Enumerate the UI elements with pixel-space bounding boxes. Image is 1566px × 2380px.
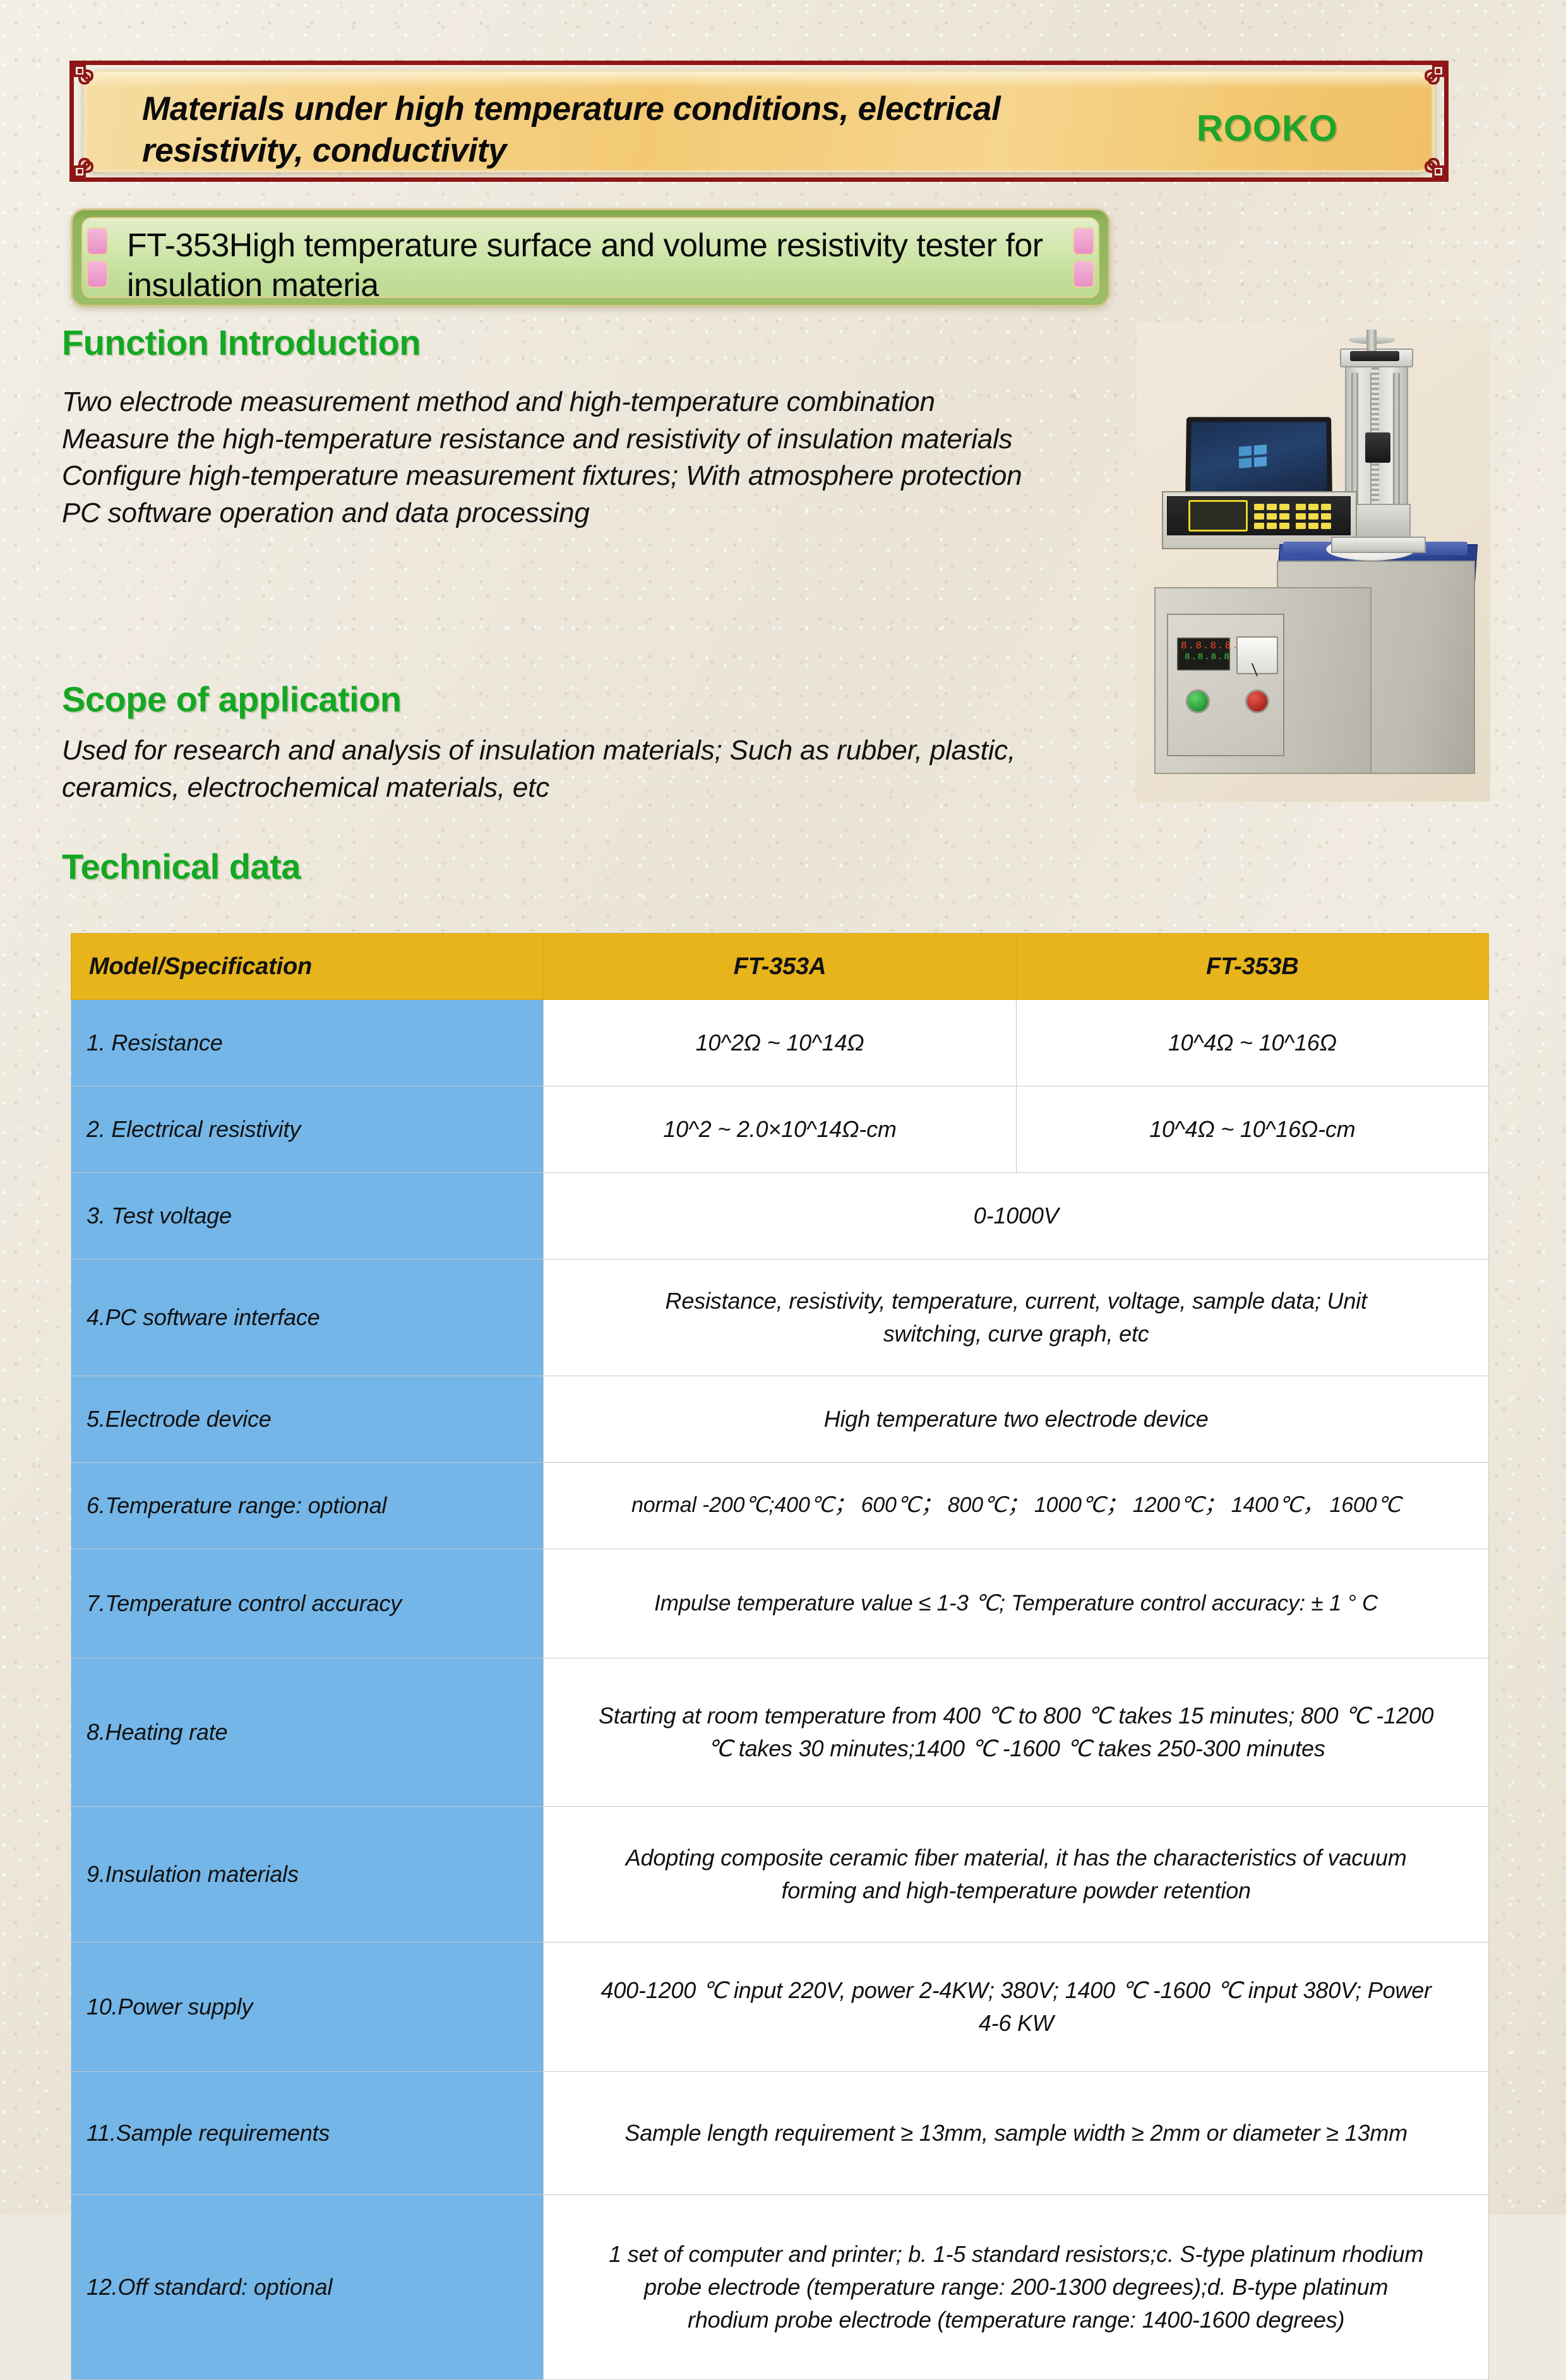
table-row: 10.Power supply 400-1200 ℃ input 220V, p… <box>71 1943 1489 2072</box>
scope-of-application-body: Used for research and analysis of insula… <box>62 732 1085 806</box>
decor-tab-icon <box>87 260 108 288</box>
keypad-key-icon <box>1254 513 1264 520</box>
table-row: 4.PC software interface Resistance, resi… <box>71 1259 1489 1376</box>
column-header-spec: Model/Specification <box>71 934 544 1000</box>
row-value-b: 10^4Ω ~ 10^16Ω-cm <box>1016 1086 1488 1173</box>
keypad-key-icon <box>1321 504 1331 510</box>
scope-of-application-heading: Scope of application <box>62 679 402 720</box>
banner-frame <box>69 61 1449 182</box>
row-value-span: Resistance, resistivity, temperature, cu… <box>544 1259 1489 1376</box>
row-label: 11.Sample requirements <box>71 2072 544 2195</box>
row-value-span: High temperature two electrode device <box>544 1376 1489 1463</box>
row-label: 4.PC software interface <box>71 1259 544 1376</box>
row-label: 5.Electrode device <box>71 1376 544 1463</box>
table-row: 5.Electrode device High temperature two … <box>71 1376 1489 1463</box>
windows-logo-icon <box>1239 444 1267 468</box>
row-value-span: 0-1000V <box>544 1173 1489 1259</box>
keypad-key-icon <box>1296 513 1306 520</box>
keypad-key-icon <box>1296 504 1306 510</box>
decor-tab-icon <box>1073 227 1094 255</box>
keypad-key-icon <box>1308 523 1318 529</box>
row-label: 2. Electrical resistivity <box>71 1086 544 1173</box>
scope-line: Used for research and analysis of insula… <box>62 732 1085 806</box>
product-title: FT-353High temperature surface and volum… <box>127 226 1054 306</box>
row-label: 8.Heating rate <box>71 1658 544 1807</box>
keypad-key-icon <box>1279 523 1289 529</box>
decor-tab-icon <box>87 227 108 255</box>
keypad-key-icon <box>1321 513 1331 520</box>
table-row: 7.Temperature control accuracy Impulse t… <box>71 1549 1489 1658</box>
table-row: 9.Insulation materials Adopting composit… <box>71 1807 1489 1943</box>
product-photo: 8.8.8.8. 8.8.8.8 <box>1137 322 1490 802</box>
product-title-inner: FT-353High temperature surface and volum… <box>81 217 1099 298</box>
knob-icon <box>1366 330 1377 351</box>
table-header-row: Model/Specification FT-353A FT-353B <box>71 934 1489 1000</box>
row-value-span: Impulse temperature value ≤ 1-3 ℃; Tempe… <box>544 1549 1489 1658</box>
row-label: 7.Temperature control accuracy <box>71 1549 544 1658</box>
function-line: PC software operation and data processin… <box>62 495 1135 532</box>
technical-data-heading: Technical data <box>62 846 301 887</box>
header-banner: Materials under high temperature conditi… <box>69 61 1449 182</box>
stop-button-icon[interactable] <box>1245 689 1269 713</box>
row-value-span: Sample length requirement ≥ 13mm, sample… <box>544 2072 1489 2195</box>
table-row: 1. Resistance 10^2Ω ~ 10^14Ω 10^4Ω ~ 10^… <box>71 1000 1489 1086</box>
instrument-display-icon <box>1188 500 1248 532</box>
row-label: 10.Power supply <box>71 1943 544 2072</box>
column-header-model-a: FT-353A <box>544 934 1016 1000</box>
analog-ammeter-icon <box>1236 636 1278 674</box>
start-button-icon[interactable] <box>1186 689 1210 713</box>
keypad-key-icon <box>1296 523 1306 529</box>
keypad-key-icon <box>1308 504 1318 510</box>
keypad-key-icon <box>1267 523 1277 529</box>
row-value-span: 1 set of computer and printer; b. 1-5 st… <box>544 2195 1489 2380</box>
function-line: Configure high-temperature measurement f… <box>62 458 1135 495</box>
keypad-key-icon <box>1267 504 1277 510</box>
keypad-key-icon <box>1267 513 1277 520</box>
control-panel-icon <box>1167 614 1284 756</box>
table-row: 11.Sample requirements Sample length req… <box>71 2072 1489 2195</box>
function-line: Two electrode measurement method and hig… <box>62 384 1135 421</box>
function-line: Measure the high-temperature resistance … <box>62 421 1135 458</box>
row-label: 1. Resistance <box>71 1000 544 1086</box>
column-header-model-b: FT-353B <box>1016 934 1488 1000</box>
table-row: 8.Heating rate Starting at room temperat… <box>71 1658 1489 1807</box>
decor-tab-icon <box>1073 260 1094 288</box>
technical-data-table: Model/Specification FT-353A FT-353B 1. R… <box>71 933 1489 2380</box>
keypad-key-icon <box>1254 504 1264 510</box>
row-label: 9.Insulation materials <box>71 1807 544 1943</box>
keypad-key-icon <box>1308 513 1318 520</box>
row-label: 6.Temperature range: optional <box>71 1463 544 1549</box>
row-value-span: 400-1200 ℃ input 220V, power 2-4KW; 380V… <box>544 1943 1489 2072</box>
row-value-span: Adopting composite ceramic fiber materia… <box>544 1807 1489 1943</box>
row-value-a: 10^2Ω ~ 10^14Ω <box>544 1000 1016 1086</box>
function-introduction-heading: Function Introduction <box>62 322 421 363</box>
keypad-key-icon <box>1279 504 1289 510</box>
row-value-a: 10^2 ~ 2.0×10^14Ω-cm <box>544 1086 1016 1173</box>
row-label: 3. Test voltage <box>71 1173 544 1259</box>
table-row: 12.Off standard: optional 1 set of compu… <box>71 2195 1489 2380</box>
keypad-key-icon <box>1321 523 1331 529</box>
function-introduction-body: Two electrode measurement method and hig… <box>62 384 1135 532</box>
table-row: 6.Temperature range: optional normal -20… <box>71 1463 1489 1549</box>
row-label: 12.Off standard: optional <box>71 2195 544 2380</box>
keypad-key-icon <box>1279 513 1289 520</box>
gantry-base-plate-icon <box>1331 537 1426 553</box>
gantry-carriage-icon <box>1365 432 1390 463</box>
row-value-b: 10^4Ω ~ 10^16Ω <box>1016 1000 1488 1086</box>
controller-sv-display: 8.8.8.8 <box>1185 653 1220 662</box>
row-value-span: Starting at room temperature from 400 ℃ … <box>544 1658 1489 1807</box>
table-row: 3. Test voltage 0-1000V <box>71 1173 1489 1259</box>
controller-pv-display: 8.8.8.8. <box>1181 641 1222 652</box>
keypad-key-icon <box>1254 523 1264 529</box>
product-title-box: FT-353High temperature surface and volum… <box>71 208 1110 307</box>
row-value-span: normal -200℃;400℃； 600℃； 800℃； 1000℃； 12… <box>544 1463 1489 1549</box>
table-row: 2. Electrical resistivity 10^2 ~ 2.0×10^… <box>71 1086 1489 1173</box>
gantry-clamp-icon <box>1350 351 1399 361</box>
